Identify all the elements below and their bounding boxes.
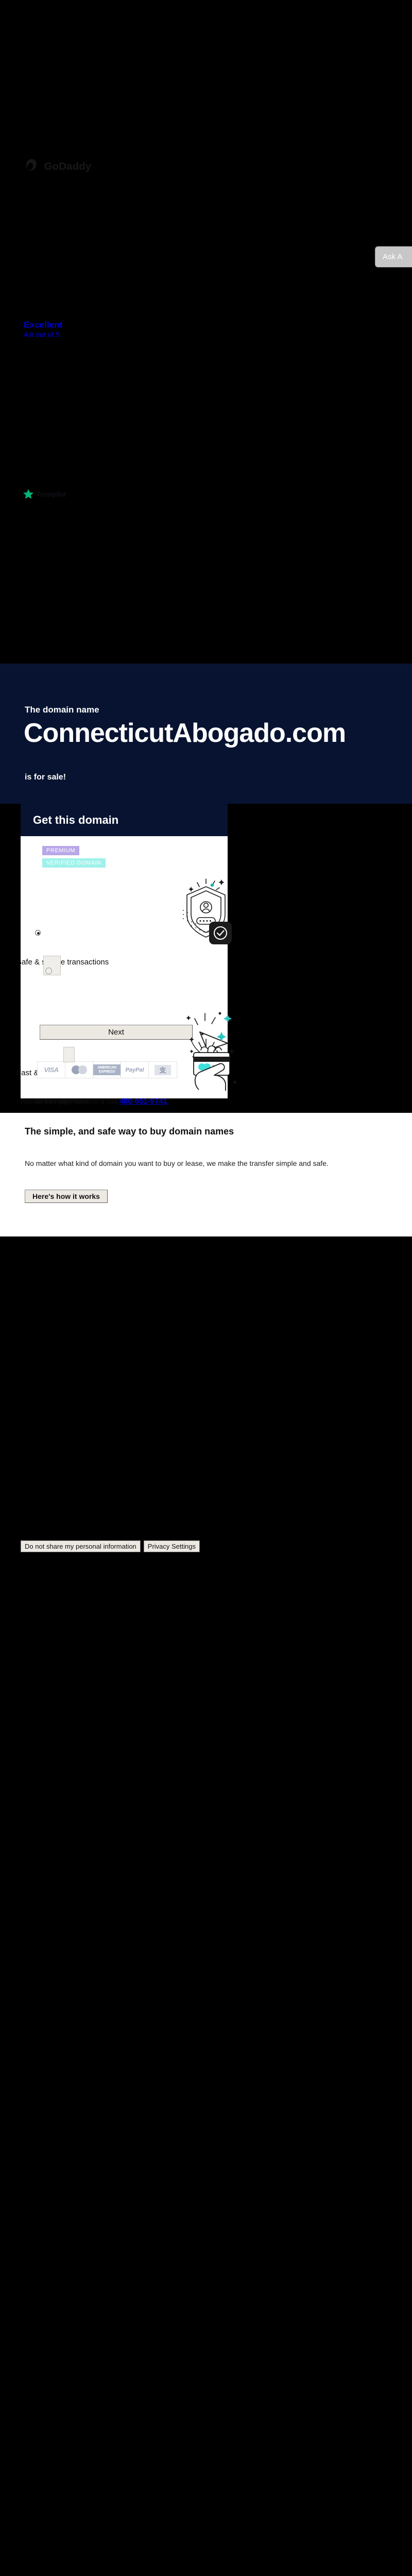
unstyled-field-overlay[interactable] xyxy=(63,1047,75,1062)
sale-domain-name: ConnecticutAbogado.com xyxy=(24,720,412,747)
paypal-label: PayPal xyxy=(125,1067,144,1073)
trustpilot-rating-word: Excellent xyxy=(24,320,63,330)
trustpilot-rating-value: 4.6 out of 5 xyxy=(24,330,63,339)
visa-icon: VISA xyxy=(38,1062,65,1078)
shield-security-icon xyxy=(174,874,232,945)
do-not-share-button[interactable]: Do not share my personal information xyxy=(21,1540,141,1552)
svg-text:GoDaddy: GoDaddy xyxy=(44,161,92,173)
card-title: Get this domain xyxy=(33,814,118,827)
badge-premium: PREMIUM xyxy=(42,846,79,855)
payment-methods-row: VISA AMERICAN EXPRESS PayPal 支 xyxy=(37,1061,177,1078)
trustpilot-rating[interactable]: Excellent 4.6 out of 5 xyxy=(24,320,63,339)
paypal-icon: PayPal xyxy=(121,1062,149,1078)
alipay-icon: 支 xyxy=(149,1062,177,1078)
credit-card-hand-illustration-icon xyxy=(186,1028,238,1091)
info-section-body: No matter what kind of domain you want t… xyxy=(25,1158,380,1168)
godaddy-logo-icon[interactable]: GoDaddy xyxy=(25,157,102,175)
trustpilot-wordmark: Trustpilot xyxy=(37,490,66,498)
mastercard-icon xyxy=(65,1062,93,1078)
sale-for-sale-text: is for sale! xyxy=(25,773,66,782)
support-phone-link[interactable]: 480-651-9741 xyxy=(119,1097,167,1106)
need-help-text: Need help? Give us a call.480-651-9741 xyxy=(35,1097,167,1106)
amex-icon: AMERICAN EXPRESS xyxy=(93,1062,121,1078)
card-header: Get this domain xyxy=(21,804,228,836)
heres-how-it-works-button[interactable]: Here's how it works xyxy=(25,1190,108,1203)
privacy-bar: Do not share my personal information Pri… xyxy=(21,1540,200,1552)
purchase-option-radio[interactable] xyxy=(35,930,41,936)
trustpilot-star-icon xyxy=(23,488,34,500)
next-button[interactable]: Next xyxy=(40,1025,193,1040)
unstyled-radio-overlay[interactable] xyxy=(45,968,52,974)
safe-secure-text: Safe & secure transactions xyxy=(16,958,135,968)
caption-overlap-row: Hassle free payments Need help? Give us … xyxy=(21,1097,288,1109)
privacy-settings-button[interactable]: Privacy Settings xyxy=(144,1540,200,1552)
badge-verified-domain: VERIFIED DOMAIN xyxy=(42,858,106,868)
trustpilot-logo[interactable]: Trustpilot xyxy=(23,488,66,500)
ask-a-question-tab[interactable]: Ask A xyxy=(375,246,412,267)
footer-section: GoDaddy xyxy=(0,1236,412,1560)
amex-label: AMERICAN EXPRESS xyxy=(93,1064,121,1075)
visa-label: VISA xyxy=(44,1066,58,1074)
info-section-title: The simple, and safe way to buy domain n… xyxy=(25,1126,234,1137)
hero-top-section: GoDaddy Ask A Excellent 4.6 out of 5 Tru… xyxy=(0,0,412,664)
sale-kicker: The domain name xyxy=(25,705,99,715)
need-help-prefix: Need help? Give us a call. xyxy=(35,1097,119,1105)
